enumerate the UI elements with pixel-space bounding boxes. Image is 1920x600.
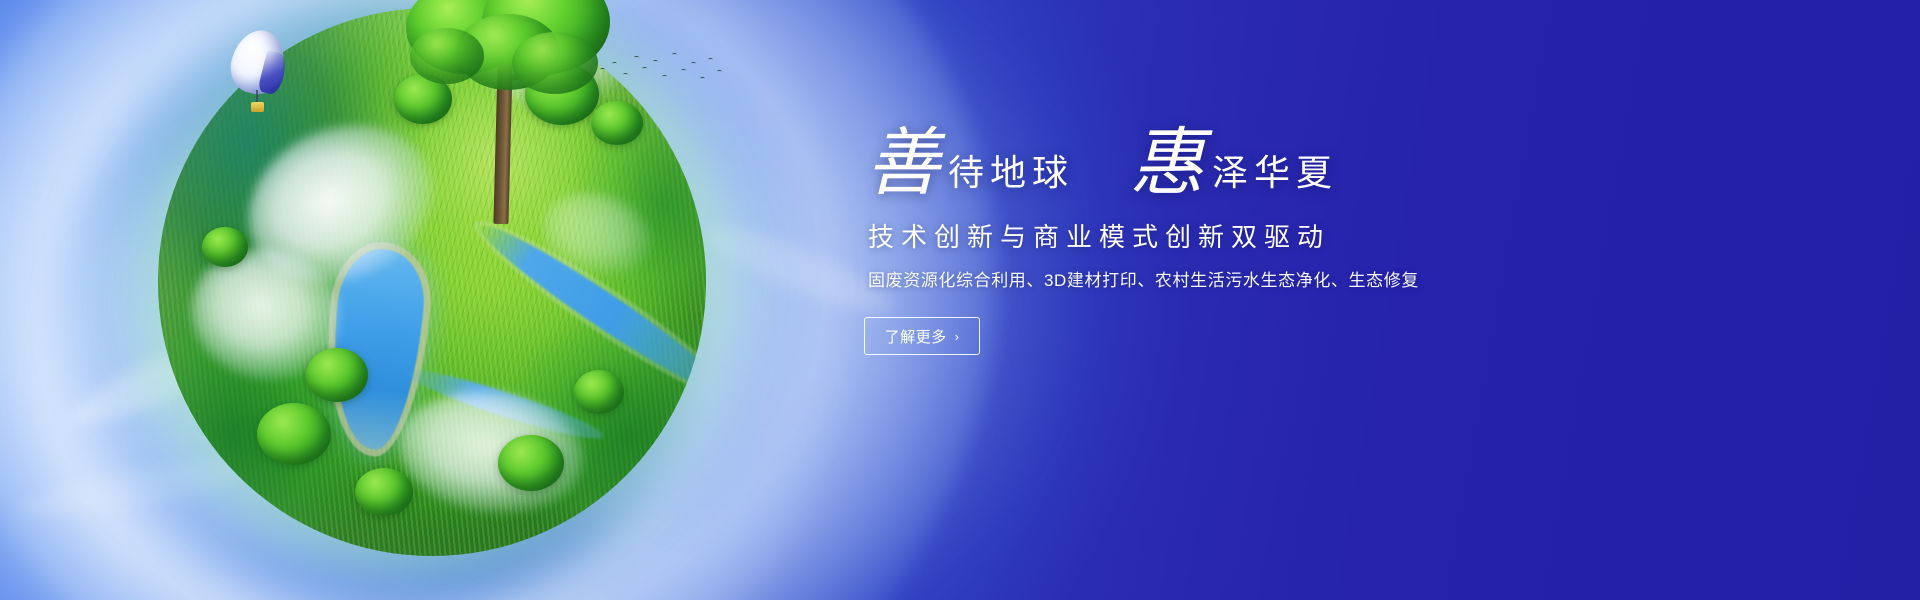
globe-tree-canopy	[257, 403, 331, 465]
headline-calli-2: 泽华夏	[1212, 155, 1338, 198]
banner-description: 固废资源化综合利用、3D建材打印、农村生活污水生态净化、生态修复	[868, 270, 1562, 292]
tree-canopy	[512, 32, 598, 94]
page-title: 善 待地球 惠 泽华夏	[866, 130, 1562, 198]
bird-icon	[623, 73, 628, 76]
bird-icon	[642, 67, 647, 70]
banner-subtitle: 技术创新与商业模式创新双驱动	[868, 222, 1562, 253]
bird-icon	[662, 75, 667, 78]
bird-icon	[691, 62, 696, 65]
bird-icon	[634, 56, 639, 59]
hot-air-balloon-icon	[232, 30, 290, 126]
hero-banner: 善 待地球 惠 泽华夏 技术创新与商业模式创新双驱动 固废资源化综合利用、3D建…	[0, 0, 1920, 600]
bird-icon	[600, 68, 605, 71]
hero-tree-icon	[400, 0, 610, 230]
headline-brush-2: 惠	[1130, 130, 1204, 198]
headline-brush-1: 善	[866, 130, 940, 198]
bird-icon	[700, 77, 705, 80]
bird-icon	[717, 70, 722, 73]
bird-icon	[708, 58, 713, 61]
learn-more-button[interactable]: 了解更多 ›	[864, 317, 980, 355]
globe-tree-canopy	[574, 370, 624, 414]
headline-calli-1: 待地球	[948, 155, 1074, 198]
bird-icon	[653, 60, 658, 63]
learn-more-label: 了解更多	[885, 326, 947, 347]
tree-canopy	[410, 28, 484, 84]
banner-copy: 善 待地球 惠 泽华夏 技术创新与商业模式创新双驱动 固废资源化综合利用、3D建…	[862, 130, 1562, 355]
chevron-right-icon: ›	[955, 329, 960, 344]
bird-icon	[672, 53, 677, 56]
bird-icon	[612, 62, 617, 65]
globe-tree-canopy	[202, 227, 248, 267]
bird-icon	[681, 69, 686, 72]
balloon-basket	[251, 102, 264, 112]
globe-tree-canopy	[306, 348, 368, 402]
bird-flock-icon	[596, 48, 726, 94]
globe-tree-canopy	[498, 435, 564, 491]
